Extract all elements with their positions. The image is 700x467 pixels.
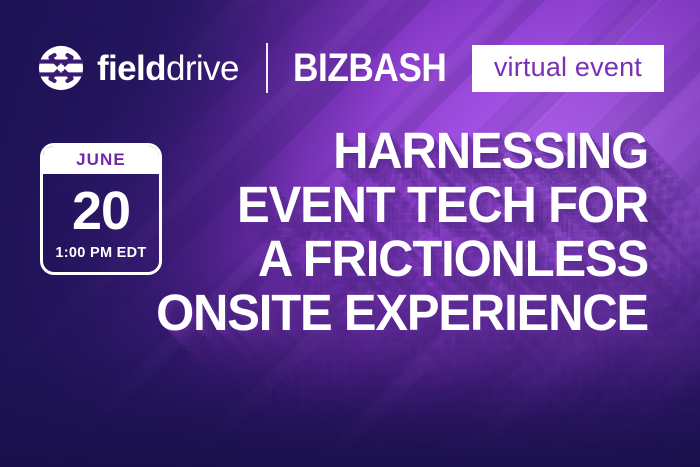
fielddrive-word-light: drive (166, 49, 239, 88)
header-row: fielddrive BIZBASH virtual event (38, 38, 664, 98)
virtual-event-badge: virtual event (472, 45, 664, 92)
headline-line-1: HARNESSING (72, 126, 648, 176)
brand-divider (266, 43, 268, 93)
headline-line-2: EVENT TECH FOR (72, 180, 648, 230)
bizbash-logo[interactable]: BIZBASH (293, 48, 446, 88)
headline-line-3: A FRICTIONLESS (72, 234, 648, 284)
fielddrive-wordmark: fielddrive (97, 51, 239, 86)
fielddrive-logo-icon (38, 45, 84, 91)
event-promo-banner: fielddrive BIZBASH virtual event JUNE 20… (0, 0, 700, 467)
fielddrive-word-bold: field (97, 49, 166, 88)
fielddrive-logo[interactable]: fielddrive (38, 45, 239, 91)
headline-line-4: ONSITE EXPERIENCE (72, 288, 648, 338)
headline: HARNESSING EVENT TECH FOR A FRICTIONLESS… (48, 126, 648, 338)
virtual-event-label: virtual event (494, 52, 642, 82)
